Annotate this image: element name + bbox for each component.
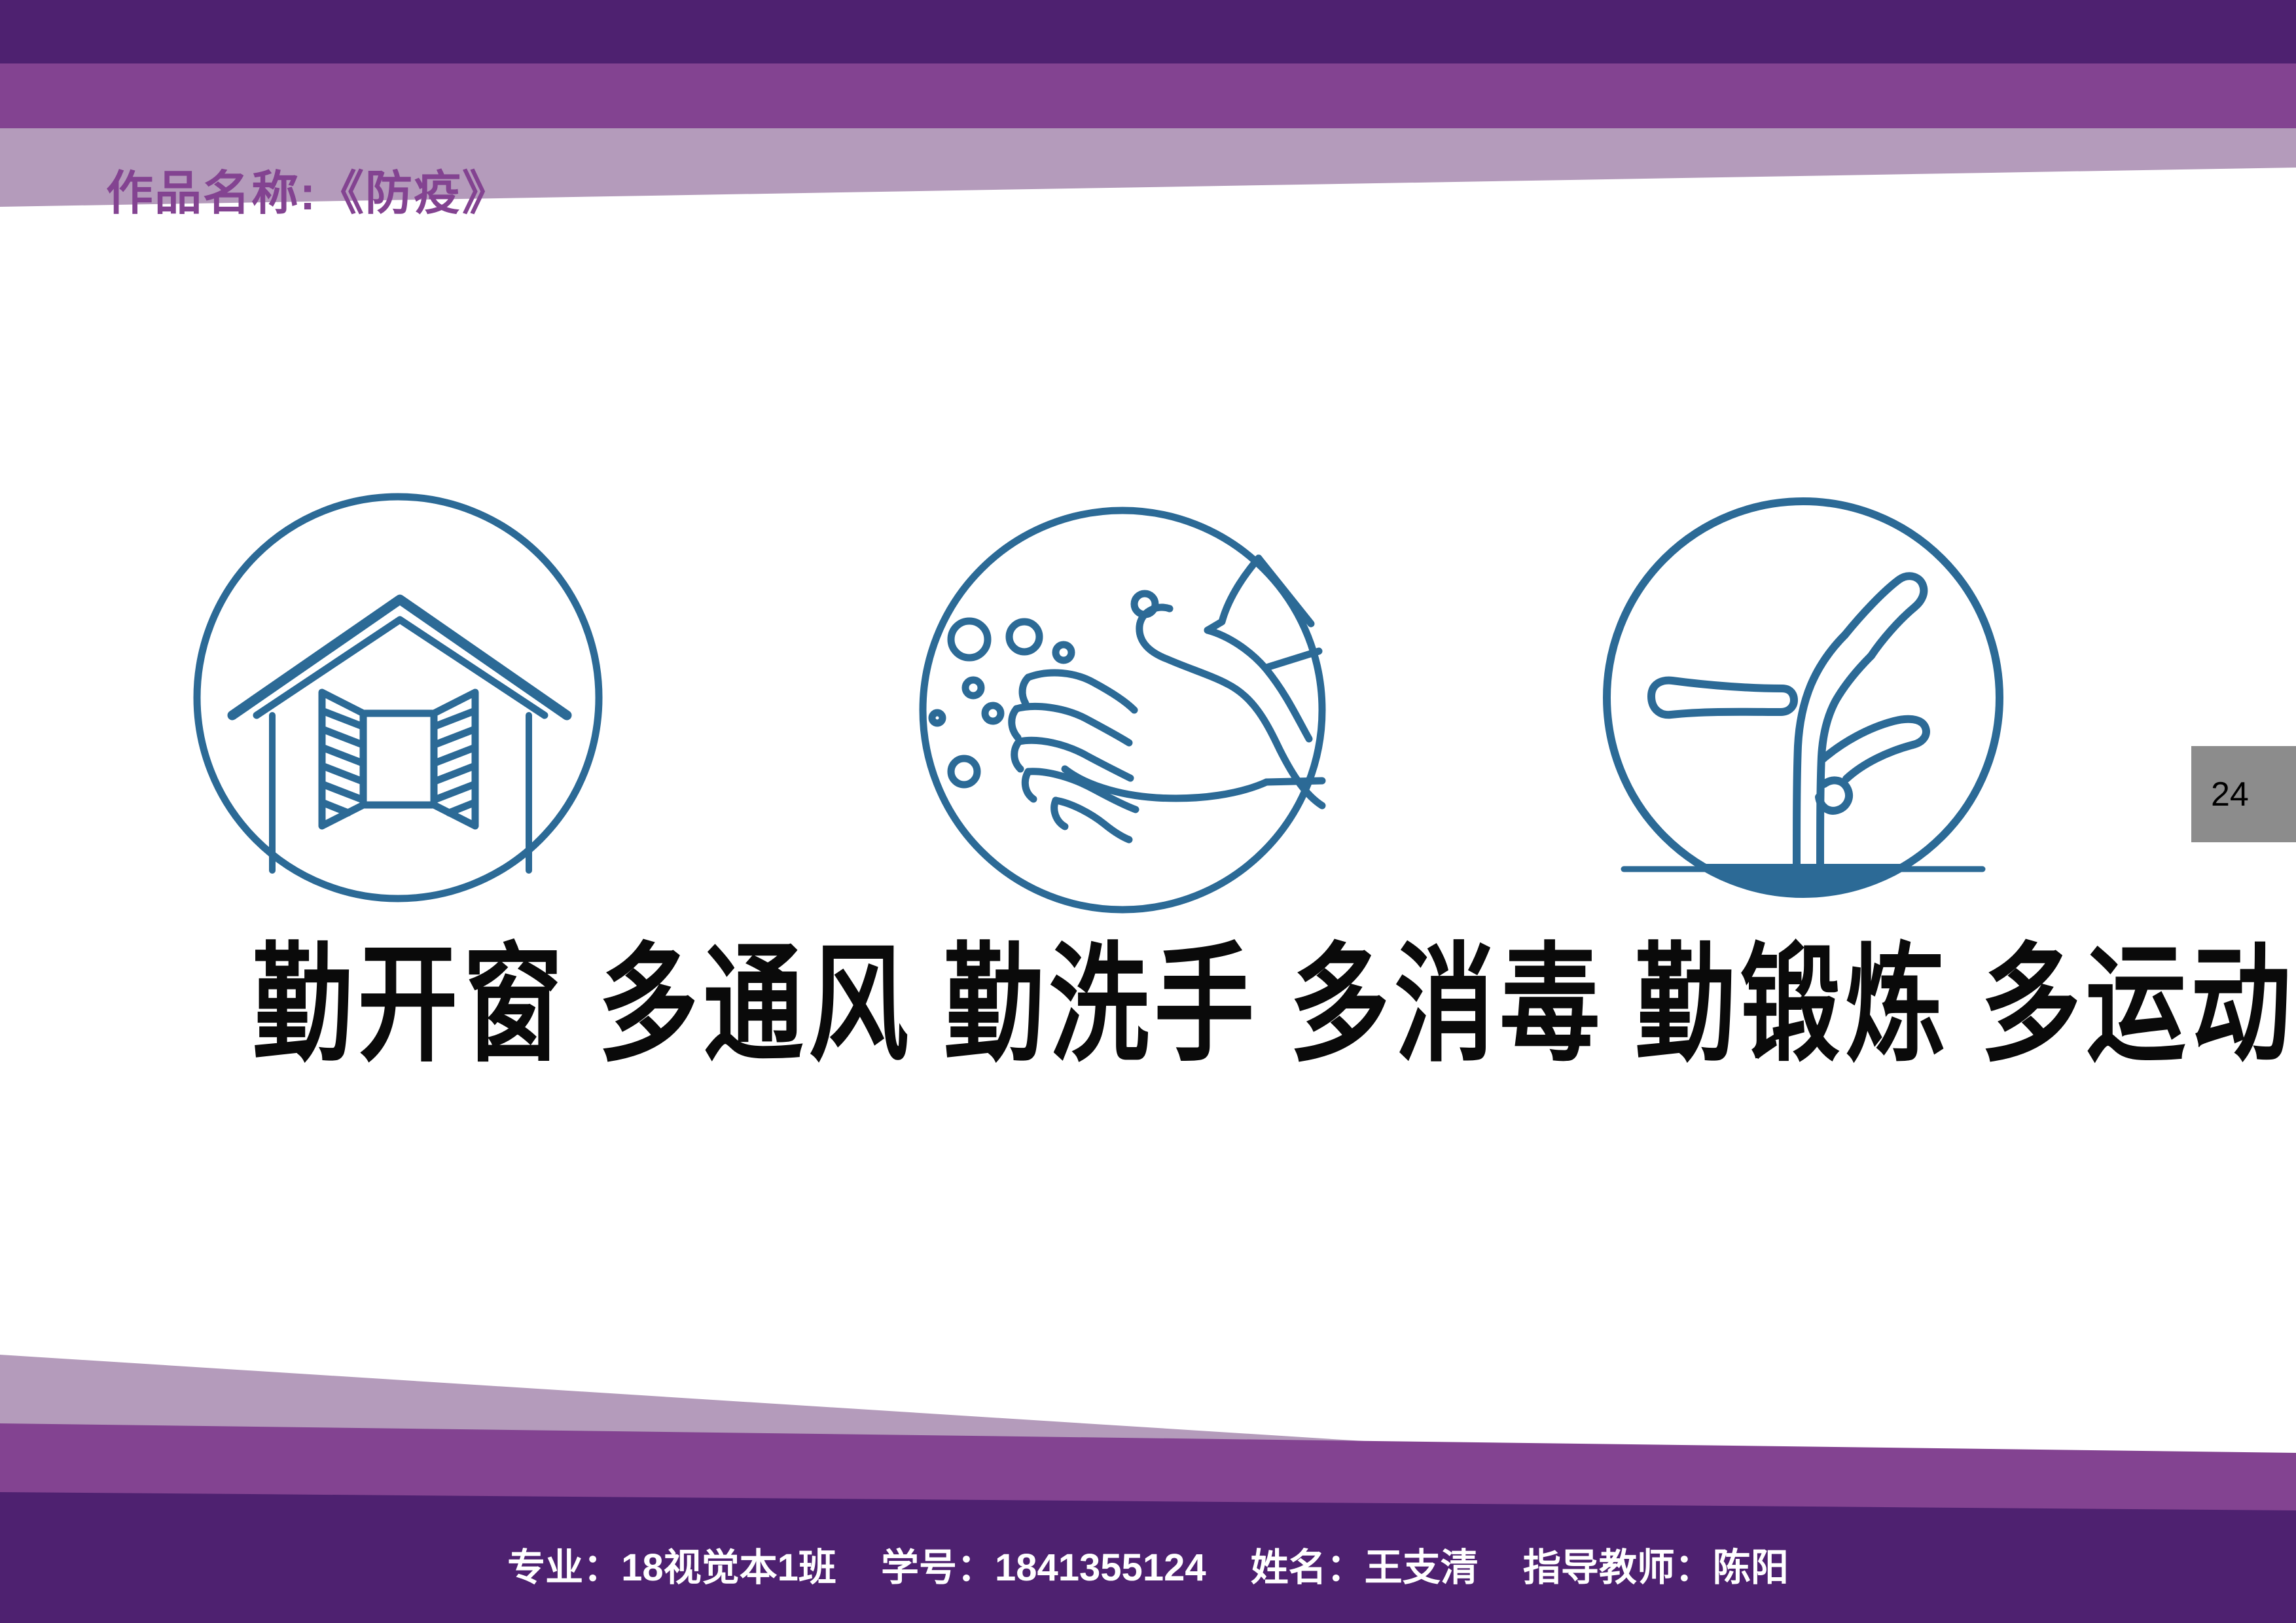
footer-student-id-label: 学号： (881, 1546, 995, 1589)
hand-washing-icon (900, 481, 1345, 939)
footer-major-label: 专业： (507, 1546, 621, 1589)
footer-major-value: 18视觉本1班 (621, 1546, 836, 1589)
footer-major: 专业：18视觉本1班 (507, 1546, 836, 1589)
footer-name: 姓名：王支清 (1251, 1546, 1479, 1589)
icon-row (0, 458, 2296, 929)
footer-teacher: 指导教师：陈阳 (1523, 1546, 1789, 1589)
page-title: 作品名称:《防疫》 (106, 154, 511, 223)
footer-teacher-value: 陈阳 (1713, 1546, 1789, 1589)
house-open-window-icon (177, 465, 622, 923)
footer-band-light-wedge (0, 1355, 2296, 1466)
footer-student-id-value: 1841355124 (995, 1546, 1206, 1589)
footer-name-value: 王支清 (1365, 1546, 1479, 1589)
presentation-slide: 作品名称:《防疫》 (0, 0, 2296, 1623)
exercise-stretch-icon (1581, 465, 2026, 923)
footer-teacher-label: 指导教师： (1523, 1546, 1713, 1589)
header-band-dark (0, 0, 2296, 63)
slogan-text: 勤开窗 多通风 勤洗手 多消毒 勤锻炼 多运动 (253, 933, 2043, 1080)
footer-band-medium (0, 1423, 2296, 1535)
footer-name-label: 姓名： (1251, 1546, 1365, 1589)
footer-info: 专业：18视觉本1班 学号：1841355124 姓名：王支清 指导教师：陈阳 (0, 1537, 2296, 1592)
footer-student-id: 学号：1841355124 (881, 1546, 1206, 1589)
page-number-badge: 24 (2191, 746, 2296, 842)
header-band-medium (0, 63, 2296, 134)
